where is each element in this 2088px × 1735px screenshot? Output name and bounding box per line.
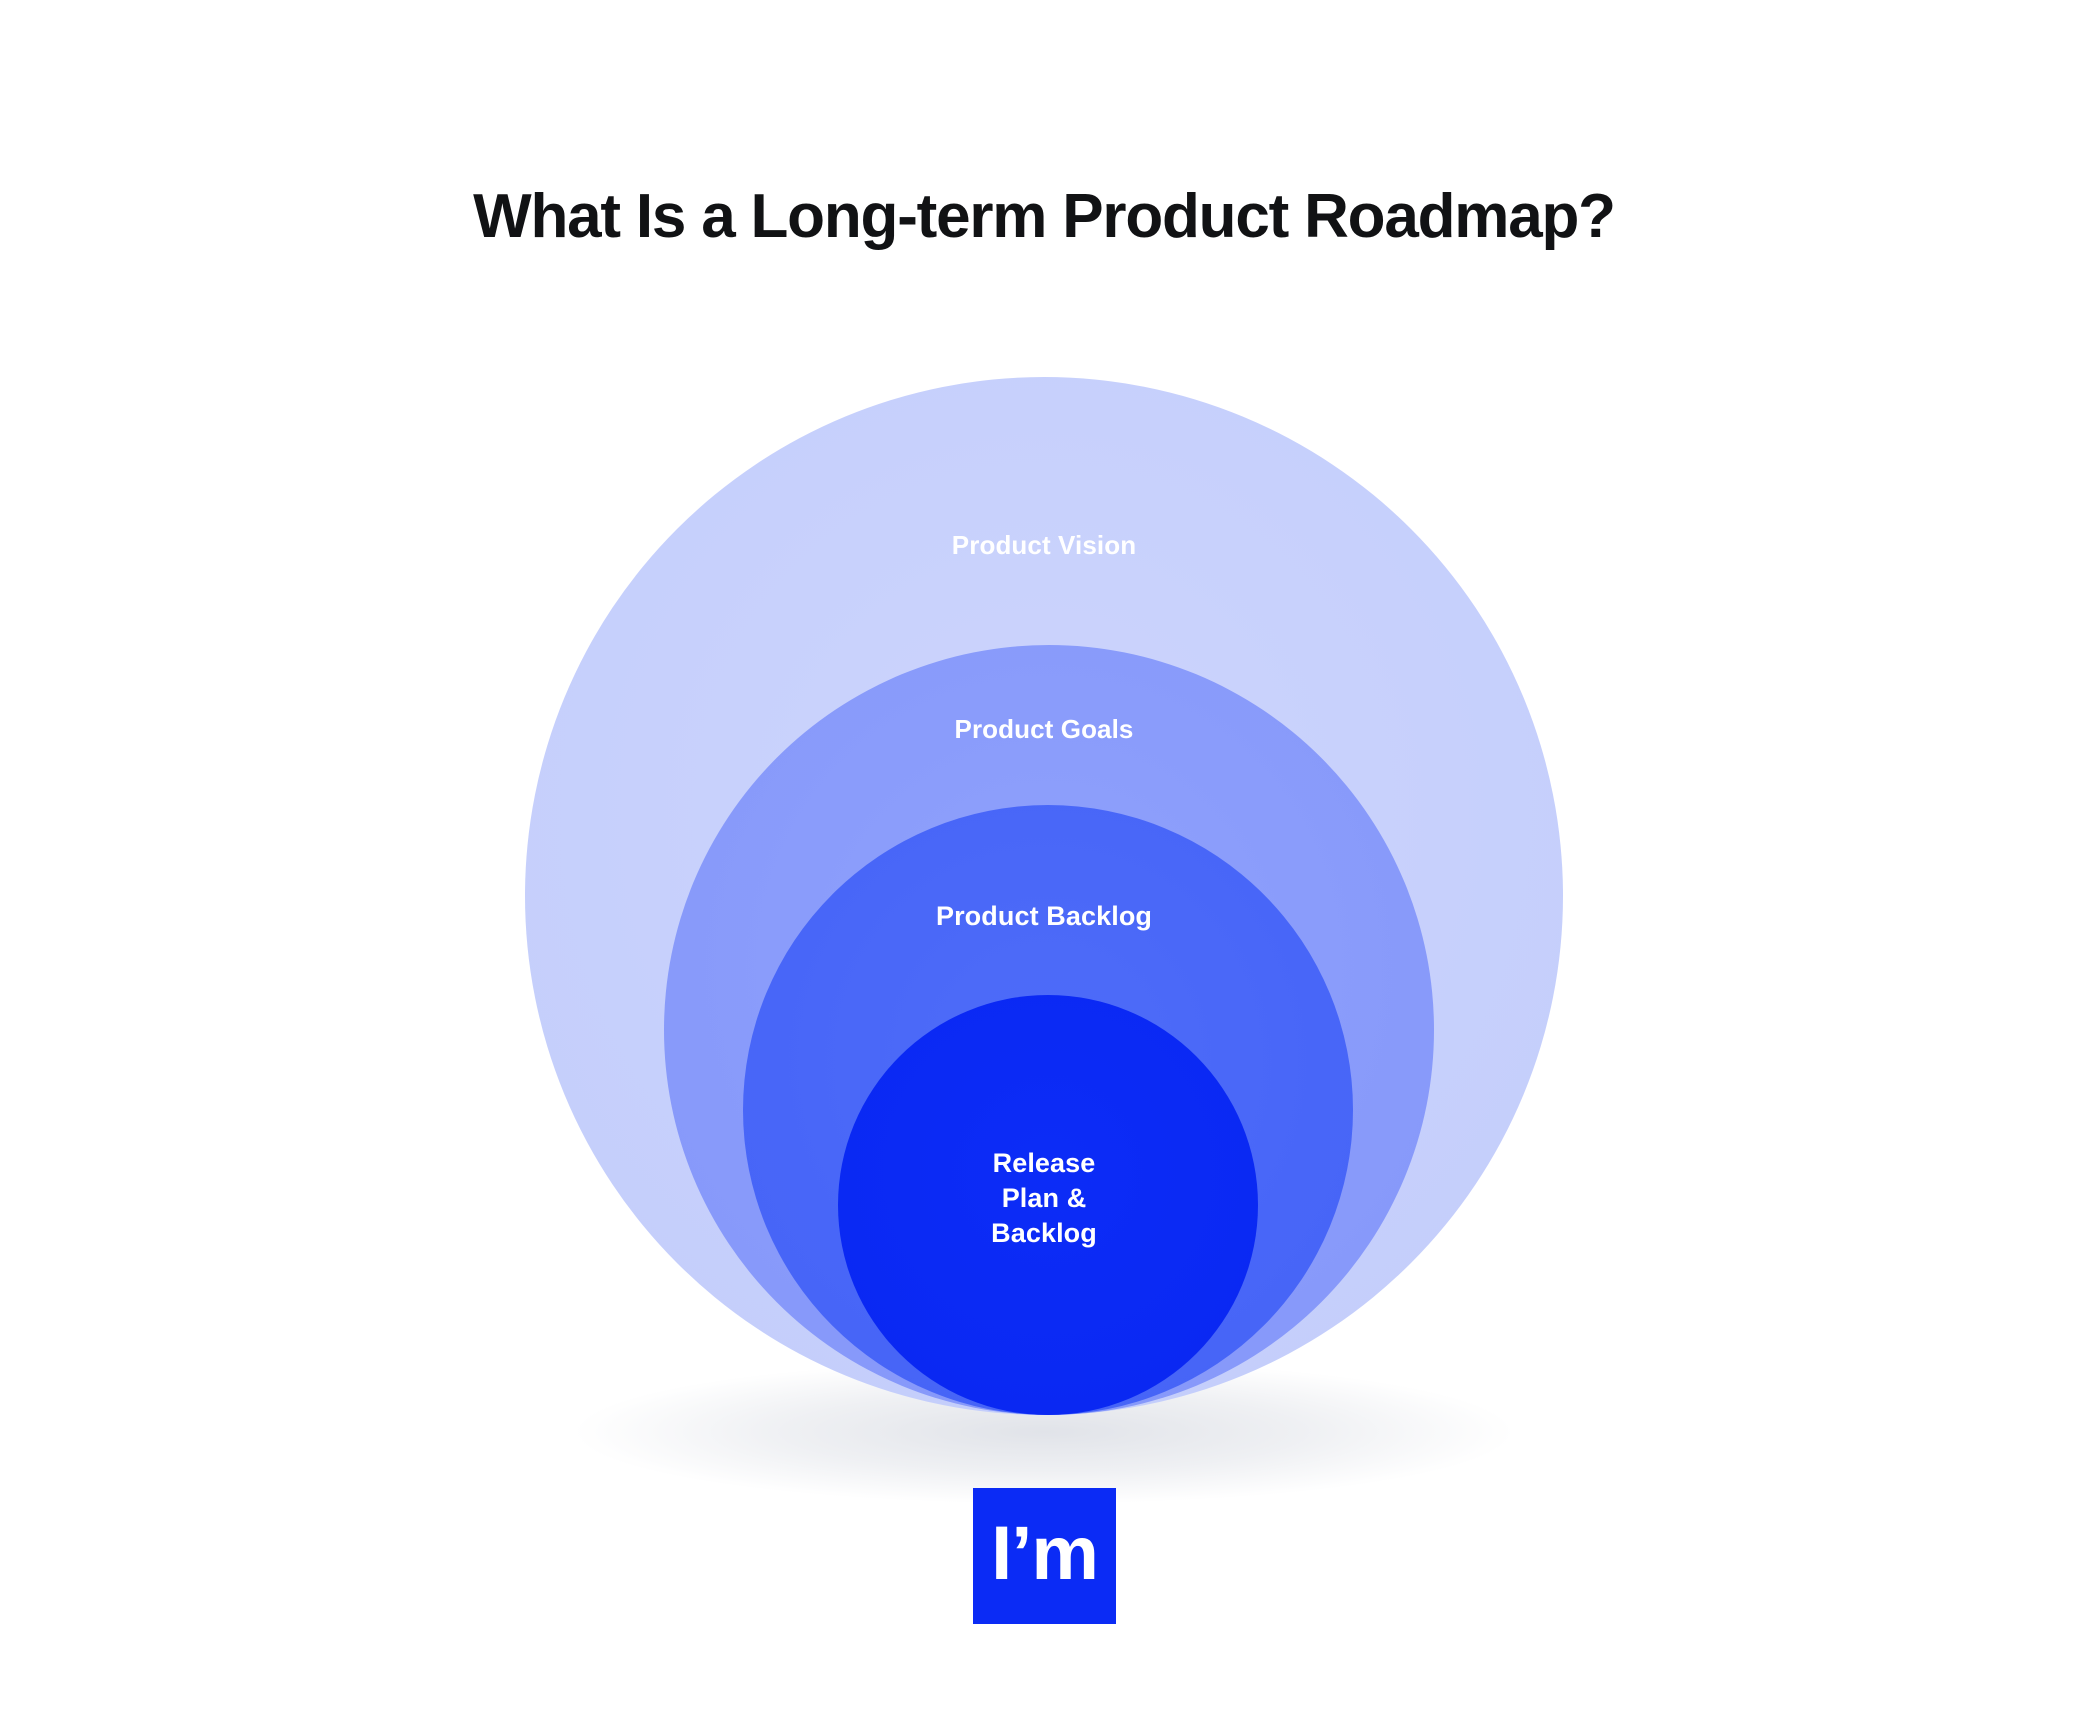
diagram-canvas <box>0 0 2088 1735</box>
page-canvas: What Is a Long-term Product Roadmap? <box>0 0 2088 1735</box>
ring-circle-release-plan-backlog <box>838 995 1258 1415</box>
concentric-circles-diagram: Product Vision Product Goals Product Bac… <box>0 0 2088 1735</box>
brand-logo: I’m <box>973 1488 1116 1624</box>
brand-logo-text: I’m <box>991 1516 1098 1592</box>
